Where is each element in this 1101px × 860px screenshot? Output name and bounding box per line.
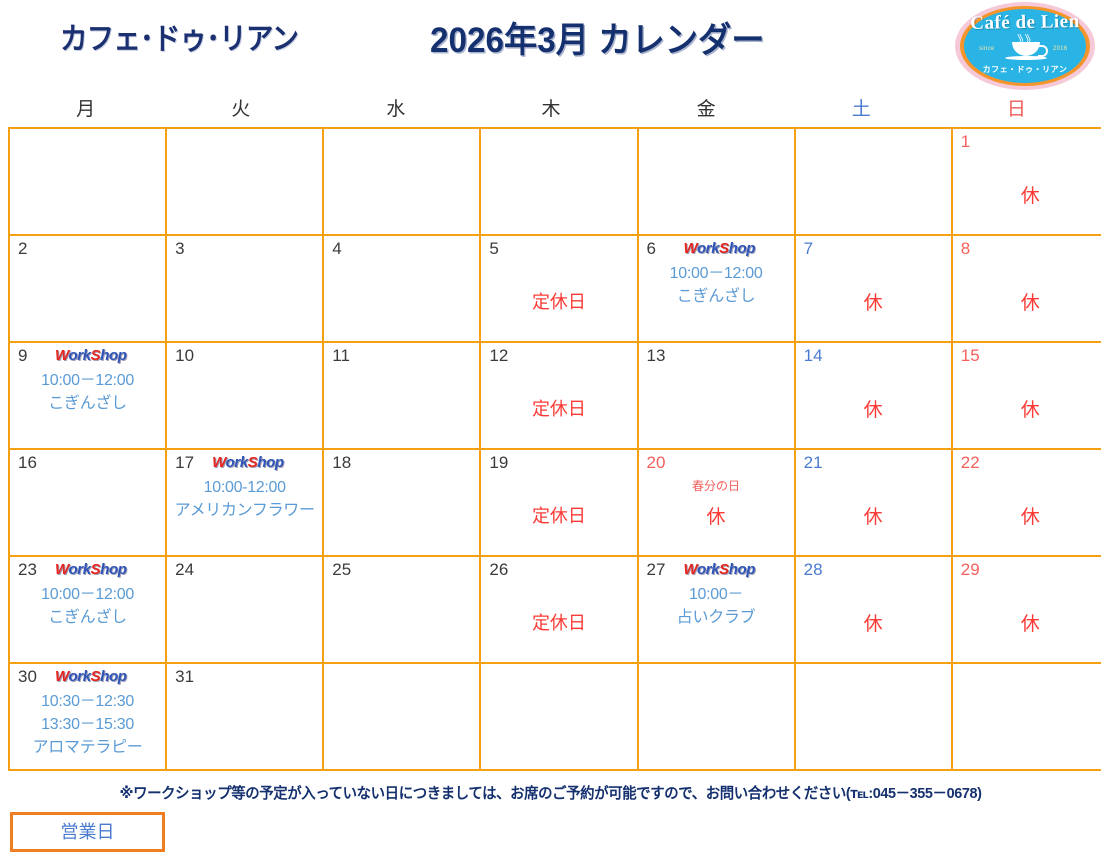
shop-name: カフェ･ドゥ･リアン	[60, 14, 298, 58]
calendar-week-row: 9WorkShop10:00－12:00こぎんざし101112定休日1314休1…	[9, 342, 1101, 449]
calendar-week-row: 2345定休日6WorkShop10:00－12:00こぎんざし7休8休	[9, 235, 1101, 342]
workshop-badge-part: W	[212, 454, 226, 471]
day-number: 15	[961, 346, 980, 366]
day-number: 31	[175, 667, 194, 687]
weekday-header-3: 木	[473, 96, 628, 126]
calendar-cell-day-10[interactable]: 10	[166, 342, 323, 449]
day-number: 29	[961, 560, 980, 580]
event-details: 10:30－12:3013:30－15:30アロマテラピー	[10, 690, 165, 760]
event-details: 10:00－12:00こぎんざし	[10, 369, 165, 415]
calendar-cell-day-31[interactable]: 31	[166, 663, 323, 770]
calendar-cell-day-18[interactable]: 18	[323, 449, 480, 556]
event-name: アロマテラピー	[10, 736, 165, 759]
day-number: 2	[18, 239, 27, 259]
workshop-badge-part: hop	[100, 668, 126, 685]
workshop-badge: WorkShop	[684, 561, 756, 578]
day-number: 4	[332, 239, 341, 259]
calendar-cell-day-17[interactable]: 17WorkShop10:00-12:00アメリカンフラワー	[166, 449, 323, 556]
event-time: 10:00－12:00	[10, 583, 165, 606]
workshop-badge-part: W	[55, 561, 69, 578]
calendar-cell-empty	[9, 128, 166, 235]
calendar-cell-day-11[interactable]: 11	[323, 342, 480, 449]
event-time: 10:00－12:00	[10, 369, 165, 392]
calendar-cell-day-2[interactable]: 2	[9, 235, 166, 342]
day-number: 24	[175, 560, 194, 580]
event-time: 10:30－12:30	[10, 690, 165, 713]
event-name: 占いクラブ	[639, 606, 794, 629]
page-header: カフェ･ドゥ･リアン 2026年3月 カレンダー Café de Lien 》》…	[0, 0, 1101, 95]
day-number: 13	[647, 346, 666, 366]
day-number: 7	[804, 239, 813, 259]
rest-day-label: 休	[796, 502, 951, 529]
closed-day-label: 定休日	[481, 502, 636, 528]
calendar-cell-day-6[interactable]: 6WorkShop10:00－12:00こぎんざし	[638, 235, 795, 342]
event-time: 10:00－12:00	[639, 262, 794, 285]
day-number: 14	[804, 346, 823, 366]
calendar-cell-day-13[interactable]: 13	[638, 342, 795, 449]
workshop-badge: WorkShop	[55, 668, 127, 685]
calendar-cell-day-21[interactable]: 21休	[795, 449, 952, 556]
rest-day-label: 休	[796, 609, 951, 636]
day-number: 28	[804, 560, 823, 580]
rest-day-label: 休	[953, 609, 1101, 636]
calendar-cell-day-3[interactable]: 3	[166, 235, 323, 342]
weekday-header-5: 土	[784, 96, 939, 126]
workshop-badge-part: ork	[69, 668, 91, 685]
event-time: 13:30－15:30	[10, 713, 165, 736]
calendar-cell-empty	[795, 663, 952, 770]
calendar-cell-day-5[interactable]: 5定休日	[480, 235, 637, 342]
calendar-cell-day-19[interactable]: 19定休日	[480, 449, 637, 556]
calendar-cell-day-14[interactable]: 14休	[795, 342, 952, 449]
workshop-badge-part: ork	[69, 561, 91, 578]
event-details: 10:00-12:00アメリカンフラワー	[167, 476, 322, 522]
workshop-badge-part: W	[684, 240, 698, 257]
calendar-week-row: 1617WorkShop10:00-12:00アメリカンフラワー1819定休日2…	[9, 449, 1101, 556]
calendar-cell-day-23[interactable]: 23WorkShop10:00－12:00こぎんざし	[9, 556, 166, 663]
cafe-logo: Café de Lien 》》 since 2016 カフェ・ドゥ・リアン	[955, 2, 1095, 90]
calendar-cell-day-9[interactable]: 9WorkShop10:00－12:00こぎんざし	[9, 342, 166, 449]
workshop-badge-part: hop	[729, 240, 755, 257]
calendar-grid: 1休2345定休日6WorkShop10:00－12:00こぎんざし7休8休9W…	[8, 127, 1101, 771]
day-number: 23	[18, 560, 37, 580]
workshop-badge-part: hop	[729, 561, 755, 578]
calendar-cell-day-15[interactable]: 15休	[952, 342, 1101, 449]
day-number: 10	[175, 346, 194, 366]
rest-day-label: 休	[639, 502, 794, 529]
rest-day-label: 休	[953, 395, 1101, 422]
day-number: 18	[332, 453, 351, 473]
rest-day-label: 休	[953, 181, 1101, 208]
calendar-cell-empty	[166, 128, 323, 235]
calendar-cell-empty	[952, 663, 1101, 770]
calendar-week-row: 23WorkShop10:00－12:00こぎんざし242526定休日27Wor…	[9, 556, 1101, 663]
weekday-header-1: 火	[163, 96, 318, 126]
calendar-cell-day-7[interactable]: 7休	[795, 235, 952, 342]
workshop-badge-part: S	[91, 561, 101, 578]
day-number: 3	[175, 239, 184, 259]
workshop-badge-part: S	[91, 668, 101, 685]
page-title: 2026年3月 カレンダー	[430, 12, 764, 63]
weekday-header-0: 月	[8, 96, 163, 126]
calendar-cell-empty	[795, 128, 952, 235]
closed-day-label: 定休日	[481, 609, 636, 635]
calendar-cell-day-20[interactable]: 20春分の日休	[638, 449, 795, 556]
calendar-cell-day-1[interactable]: 1休	[952, 128, 1101, 235]
workshop-badge-part: S	[248, 454, 258, 471]
calendar-cell-day-22[interactable]: 22休	[952, 449, 1101, 556]
calendar-body: 1休2345定休日6WorkShop10:00－12:00こぎんざし7休8休9W…	[9, 128, 1101, 770]
day-number: 21	[804, 453, 823, 473]
calendar-cell-day-8[interactable]: 8休	[952, 235, 1101, 342]
rest-day-label: 休	[796, 288, 951, 315]
day-number: 19	[489, 453, 508, 473]
workshop-badge-part: W	[55, 668, 69, 685]
day-number: 22	[961, 453, 980, 473]
event-time: 10:00－	[639, 583, 794, 606]
day-number: 26	[489, 560, 508, 580]
workshop-badge-part: hop	[100, 561, 126, 578]
calendar-cell-empty	[480, 128, 637, 235]
event-name: アメリカンフラワー	[167, 499, 322, 522]
weekday-header-row: 月火水木金土日	[8, 96, 1094, 126]
event-name: こぎんざし	[639, 285, 794, 308]
event-time: 10:00-12:00	[167, 476, 322, 499]
workshop-badge-part: S	[91, 347, 101, 364]
calendar-cell-day-16[interactable]: 16	[9, 449, 166, 556]
workshop-badge-part: ork	[226, 454, 248, 471]
calendar-cell-day-26[interactable]: 26定休日	[480, 556, 637, 663]
workshop-badge-part: hop	[257, 454, 283, 471]
event-name: こぎんざし	[10, 392, 165, 415]
workshop-badge: WorkShop	[55, 347, 127, 364]
calendar-cell-day-28[interactable]: 28休	[795, 556, 952, 663]
day-number: 8	[961, 239, 970, 259]
workshop-badge-part: ork	[697, 561, 719, 578]
weekday-header-2: 水	[318, 96, 473, 126]
workshop-badge-part: S	[719, 240, 729, 257]
workshop-badge: WorkShop	[212, 454, 284, 471]
event-details: 10:00－占いクラブ	[639, 583, 794, 629]
calendar-week-row: 30WorkShop10:30－12:3013:30－15:30アロマテラピー3…	[9, 663, 1101, 770]
closed-day-label: 定休日	[481, 288, 636, 314]
calendar-week-row: 1休	[9, 128, 1101, 235]
event-details: 10:00－12:00こぎんざし	[10, 583, 165, 629]
day-number: 25	[332, 560, 351, 580]
logo-since-label: since	[979, 46, 995, 52]
calendar-cell-day-4[interactable]: 4	[323, 235, 480, 342]
calendar-cell-day-24[interactable]: 24	[166, 556, 323, 663]
day-number: 9	[18, 346, 27, 366]
day-number: 17	[175, 453, 194, 473]
rest-day-label: 休	[796, 395, 951, 422]
day-number: 5	[489, 239, 498, 259]
workshop-badge-part: ork	[697, 240, 719, 257]
reservation-note: ※ワークショップ等の予定が入っていない日につきましては、お席のご予約が可能ですの…	[22, 782, 1079, 803]
workshop-badge-part: ork	[69, 347, 91, 364]
calendar-cell-empty	[323, 663, 480, 770]
day-number: 27	[647, 560, 666, 580]
calendar-cell-empty	[323, 128, 480, 235]
legend-open-day-box: 営業日	[10, 812, 165, 852]
public-holiday-label: 春分の日	[639, 477, 794, 494]
calendar-cell-empty	[480, 663, 637, 770]
workshop-badge-part: W	[684, 561, 698, 578]
event-details: 10:00－12:00こぎんざし	[639, 262, 794, 308]
legend-open-day-label: 営業日	[13, 815, 162, 849]
calendar-cell-day-27[interactable]: 27WorkShop10:00－占いクラブ	[638, 556, 795, 663]
rest-day-label: 休	[953, 288, 1101, 315]
workshop-badge: WorkShop	[684, 240, 756, 257]
workshop-badge-part: hop	[100, 347, 126, 364]
day-number: 1	[961, 132, 970, 152]
calendar-cell-empty	[638, 663, 795, 770]
workshop-badge-part: S	[719, 561, 729, 578]
calendar-cell-day-12[interactable]: 12定休日	[480, 342, 637, 449]
day-number: 16	[18, 453, 37, 473]
logo-jp-text: カフェ・ドゥ・リアン	[955, 64, 1095, 75]
day-number: 30	[18, 667, 37, 687]
logo-year-label: 2016	[1053, 46, 1068, 52]
calendar-cell-day-30[interactable]: 30WorkShop10:30－12:3013:30－15:30アロマテラピー	[9, 663, 166, 770]
coffee-saucer-icon	[1005, 56, 1047, 60]
day-number: 20	[647, 453, 666, 473]
workshop-badge: WorkShop	[55, 561, 127, 578]
event-name: こぎんざし	[10, 606, 165, 629]
calendar-cell-day-29[interactable]: 29休	[952, 556, 1101, 663]
weekday-header-4: 金	[629, 96, 784, 126]
workshop-badge-part: W	[55, 347, 69, 364]
day-number: 11	[332, 346, 350, 366]
day-number: 12	[489, 346, 508, 366]
calendar-cell-empty	[638, 128, 795, 235]
weekday-header-6: 日	[939, 96, 1094, 126]
closed-day-label: 定休日	[481, 395, 636, 421]
day-number: 6	[647, 239, 656, 259]
calendar-cell-day-25[interactable]: 25	[323, 556, 480, 663]
rest-day-label: 休	[953, 502, 1101, 529]
